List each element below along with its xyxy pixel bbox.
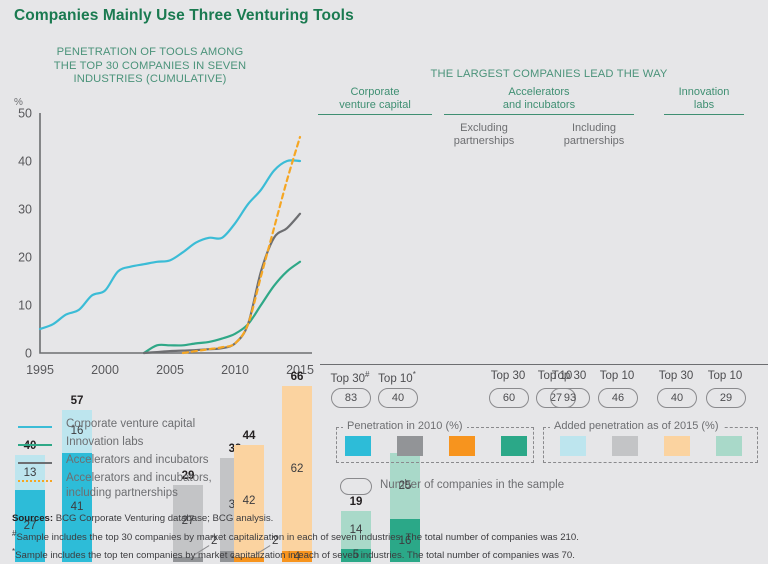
bar-chart-baseline [320,364,768,365]
line-legend-item: Accelerators and incubators,including pa… [18,472,318,502]
group-underline [664,114,744,115]
line-chart-legend: Corporate venture capitalInnovation labs… [18,418,318,502]
line-legend-label: Accelerators and incubators,including pa… [66,471,212,501]
line-legend-swatch [18,480,52,482]
bar-total-value: 57 [54,395,100,407]
y-axis-tick-label: 30 [18,203,32,217]
sources-label: Sources: [12,513,53,524]
group-header-line-2: and incubators [444,99,634,112]
bar-category-label: Top 10 [695,370,755,382]
group-header-line-1: Accelerators [444,86,634,99]
line-legend-label: Innovation labs [66,435,143,450]
group-underline [444,114,634,115]
sample-size-pill: 60 [489,388,529,408]
line-chart-axes [40,113,312,353]
legend-added-penetration-2015-title: Added penetration as of 2015 (%) [550,420,723,432]
left-heading-line-2: THE TOP 30 COMPANIES IN SEVEN [24,60,276,74]
group-header-line-2: venture capital [318,99,432,112]
legend-swatch-accelerators-incl-2010 [449,436,475,456]
legend-swatch-accelerators-incl-added [664,436,690,456]
sample-size-pill: 29 [706,388,746,408]
legend-swatch-innovation-labs-added [716,436,742,456]
subgroup-line-1: Excluding [438,122,530,135]
left-panel-heading: PENETRATION OF TOOLS AMONG THE TOP 30 CO… [24,46,276,87]
sample-size-pill: 40 [657,388,697,408]
group-header-line-2: labs [664,99,744,112]
group-header-accelerators-and-incubators: Accelerators and incubators [444,86,634,115]
legend-swatch-cvc-added [560,436,586,456]
sample-size-legend-label: Number of companies in the sample [380,479,564,491]
legend-swatch-accelerators-2010 [397,436,423,456]
sample-size-pill: 93 [550,388,590,408]
line-legend-swatch [18,444,52,446]
group-header-line-1: Corporate [318,86,432,99]
left-heading-line-3: INDUSTRIES (CUMULATIVE) [24,73,276,87]
subgroup-line-1: Including [548,122,640,135]
line-legend-swatch [18,426,52,428]
sources-text: BCG Corporate Venturing database; BCG an… [56,513,274,524]
group-header-corporate-venture-capital: Corporate venture capital [318,86,432,115]
group-header-innovation-labs: Innovation labs [664,86,744,115]
x-axis-tick-label: 2005 [156,363,184,377]
subgroup-header-including-partnerships: Including partnerships [548,122,640,148]
y-axis-tick-label: 10 [18,299,32,313]
x-axis-tick-label: 2010 [221,363,249,377]
footnote-1: #Sample includes the top 30 companies by… [12,527,756,546]
line-legend-item: Corporate venture capital [18,418,318,436]
footnote-2-text: Sample includes the top ten companies by… [15,550,575,561]
x-axis-tick-label: 2000 [91,363,119,377]
subgroup-line-2: partnerships [548,135,640,148]
line-legend-label: Corporate venture capital [66,417,195,432]
footnote-1-text: Sample includes the top 30 companies by … [16,532,578,543]
legend-swatch-accelerators-added [612,436,638,456]
sample-size-pill: 46 [598,388,638,408]
category-footnote-marker: * [413,370,416,379]
bar-category-label: Top 10* [367,370,427,385]
y-axis-tick-label: 20 [18,251,32,265]
group-header-line-1: Innovation [664,86,744,99]
left-heading-line-1: PENETRATION OF TOOLS AMONG [24,46,276,60]
legend-penetration-2010-title: Penetration in 2010 (%) [343,420,467,432]
y-axis-tick-label: 50 [18,107,32,121]
legend-added-penetration-2015: Added penetration as of 2015 (%) [543,427,758,463]
sample-size-pill: 40 [378,388,418,408]
line-legend-label: Accelerators and incubators [66,453,209,468]
line-series-2 [144,262,300,353]
bar-total-value: 19 [333,496,379,508]
footnote-2: *Sample includes the top ten companies b… [12,545,756,564]
right-panel-heading: THE LARGEST COMPANIES LEAD THE WAY [330,68,768,80]
line-legend-swatch [18,462,52,464]
line-series-4 [183,137,300,353]
page-title: Companies Mainly Use Three Venturing Too… [14,7,354,25]
line-chart: %5040302010019952000200520102015 [0,92,320,387]
x-axis-tick-label: 1995 [26,363,54,377]
sources-block: Sources: BCG Corporate Venturing databas… [12,512,756,564]
subgroup-line-2: partnerships [438,135,530,148]
bar-category-label: Top 10 [587,370,647,382]
legend-swatch-cvc-2010 [345,436,371,456]
legend-penetration-2010: Penetration in 2010 (%) [336,427,534,463]
sample-size-pill: 83 [331,388,371,408]
sources-line: Sources: BCG Corporate Venturing databas… [12,512,756,527]
line-legend-item: Innovation labs [18,436,318,454]
legend-swatch-innovation-labs-2010 [501,436,527,456]
subgroup-header-excluding-partnerships: Excluding partnerships [438,122,530,148]
sample-size-pill-icon [340,478,372,495]
bar-total-value: 66 [274,371,320,383]
group-underline [318,114,432,115]
y-axis-tick-label: 0 [25,347,32,361]
line-legend-item: Accelerators and incubators [18,454,318,472]
y-axis-tick-label: 40 [18,155,32,169]
